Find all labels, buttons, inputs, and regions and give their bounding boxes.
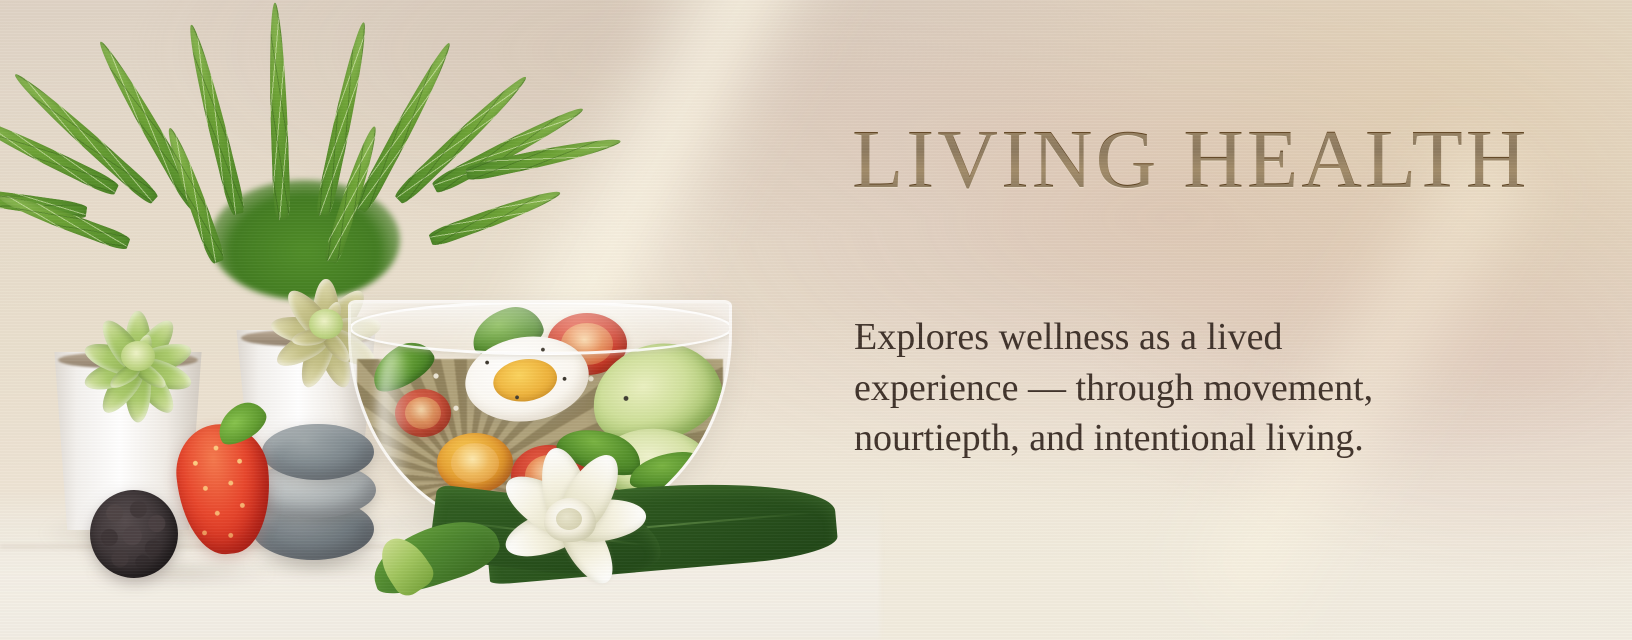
zen-stone-top-icon	[262, 424, 374, 480]
fern-frond	[0, 189, 131, 252]
banner-description: Explores wellness as a lived experience …	[854, 312, 1414, 464]
succulent-center	[309, 309, 343, 339]
glass-highlight	[377, 343, 411, 493]
white-orchid-icon	[488, 452, 658, 596]
banner-text-panel: LIVING HEALTH Explores wellness as a liv…	[848, 0, 1632, 640]
succulent-left-icon	[78, 330, 198, 400]
blackberry-icon	[90, 490, 178, 578]
bowl-rim	[349, 301, 732, 355]
living-health-banner: LIVING HEALTH Explores wellness as a liv…	[0, 0, 1632, 640]
description-line-1: Explores wellness as a lived	[854, 312, 1414, 363]
succulent-center	[121, 341, 155, 371]
page-title: LIVING HEALTH	[852, 118, 1529, 202]
description-line-2: experience — through movement,	[854, 363, 1414, 414]
orchid-lip	[544, 498, 596, 542]
description-line-3: nourtiepth, and intentional living.	[854, 413, 1414, 464]
fern-frond	[9, 68, 160, 206]
wellness-still-life-photo	[0, 0, 860, 640]
fern-frond	[428, 185, 563, 248]
